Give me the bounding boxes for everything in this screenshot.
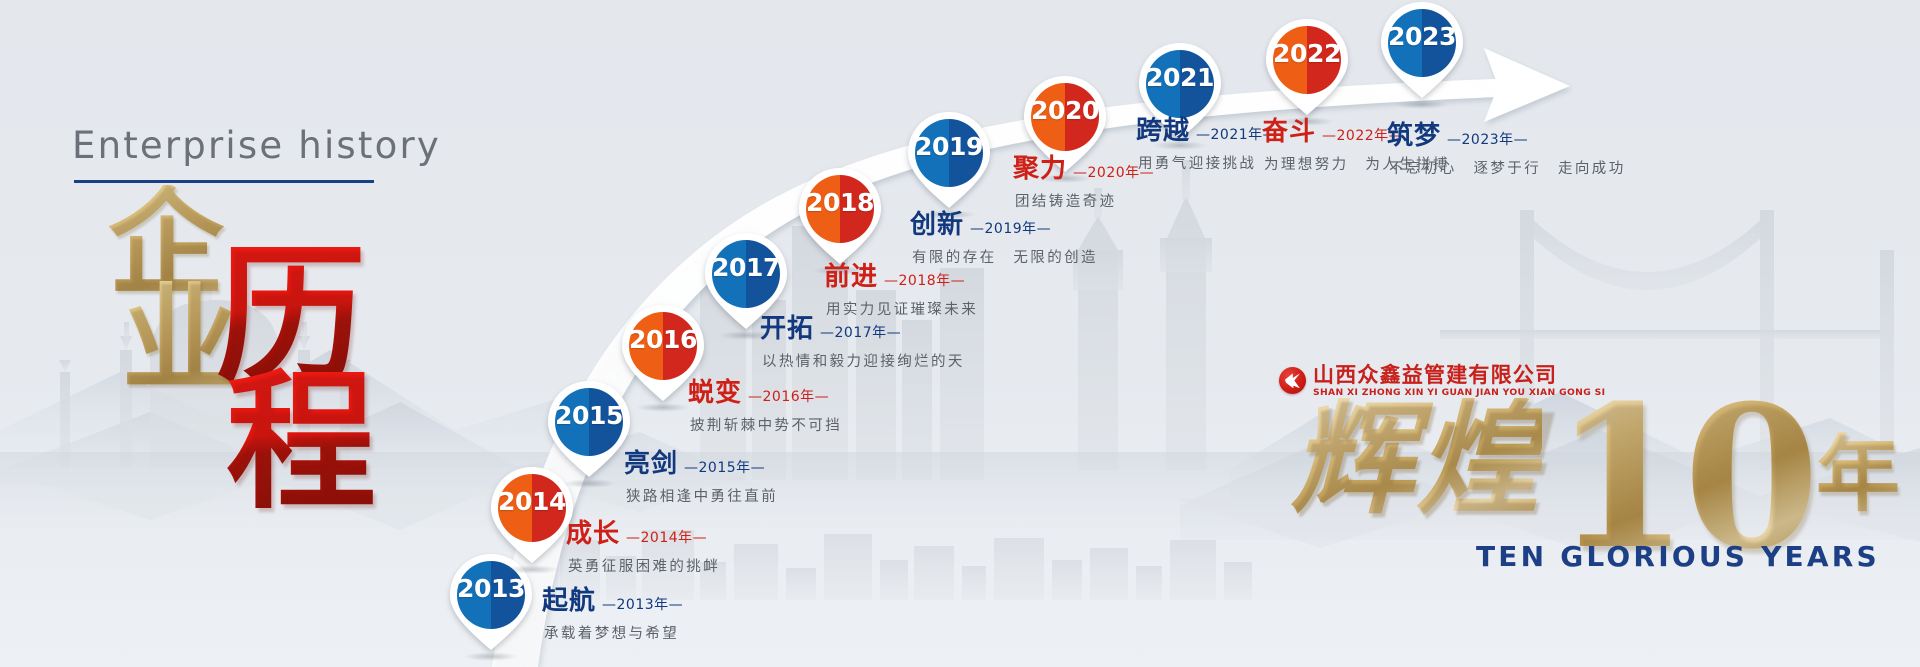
milestone-2015[interactable]: 亮剑 —2015年— 狭路相逢中勇往直前 [624,443,778,506]
milestone-year: —2023年— [1447,129,1528,149]
anniversary-english: TEN GLORIOUS YEARS [1476,540,1880,573]
anniversary-unit: 年 [1816,432,1900,516]
milestone-title: 蜕变 [688,372,742,409]
anniversary-chinese: 辉煌 [1290,398,1542,522]
milestone-description: 用勇气迎接挑战 [1138,152,1277,173]
page-title-english: Enterprise history [72,124,441,167]
milestone-title: 跨越 [1136,110,1190,147]
milestone-description: 不忘初心 逐梦于行 走向成功 [1389,157,1626,178]
infographic-canvas: Enterprise history 企 业 历 程 2013 [0,0,1920,667]
milestone-title: 奋斗 [1262,111,1316,148]
milestone-description: 团结铸造奇迹 [1015,190,1154,211]
milestone-title: 亮剑 [624,443,678,480]
milestone-description: 有限的存在 无限的创造 [912,246,1098,267]
milestone-description: 英勇征服困难的挑衅 [568,555,720,576]
milestone-title: 筑梦 [1387,115,1441,152]
milestone-year: —2018年— [884,270,965,290]
timeline-pin-2022[interactable]: 2022 [1264,17,1350,121]
timeline-pin-2019[interactable]: 2019 [906,110,992,214]
title-char-cheng: 程 [226,367,376,517]
pin-drop-shadow [636,403,690,412]
milestone-2021[interactable]: 跨越 —2021年— 用勇气迎接挑战 [1136,110,1277,173]
milestone-year: —2016年— [748,386,829,406]
milestone-year: —2019年— [970,218,1051,238]
milestone-year: —2015年— [684,457,765,477]
milestone-2023[interactable]: 筑梦 —2023年— 不忘初心 逐梦于行 走向成功 [1387,115,1626,178]
milestone-2019[interactable]: 创新 —2019年— 有限的存在 无限的创造 [910,204,1098,267]
milestone-description: 披荆斩棘中势不可挡 [690,414,842,435]
milestone-title: 前进 [824,256,878,293]
pin-drop-shadow [562,479,616,488]
anniversary-block: 辉煌 10 年 TEN GLORIOUS YEARS [1268,392,1918,567]
pin-drop-shadow [505,565,559,574]
milestone-2014[interactable]: 成长 —2014年— 英勇征服困难的挑衅 [566,513,720,576]
pin-drop-shadow [464,652,518,661]
milestone-description: 承载着梦想与希望 [544,622,683,643]
milestone-title: 起航 [542,580,596,617]
page-title-chinese: 企 业 历 程 [108,185,408,515]
timeline-pin-2023[interactable]: 2023 [1379,0,1465,104]
milestone-description: 用实力见证璀璨未来 [826,298,978,319]
milestone-2020[interactable]: 聚力 —2020年— 团结铸造奇迹 [1013,148,1154,211]
milestone-title: 成长 [566,513,620,550]
pin-drop-shadow [1395,100,1449,109]
milestone-year: —2013年— [602,594,683,614]
milestone-description: 以热情和毅力迎接绚烂的天 [762,350,965,371]
milestone-title: 聚力 [1013,148,1067,185]
milestone-title: 创新 [910,204,964,241]
milestone-2013[interactable]: 起航 —2013年— 承载着梦想与希望 [542,580,683,643]
timeline-pin-2018[interactable]: 2018 [797,166,883,270]
milestone-year: —2014年— [626,527,707,547]
milestone-title: 开拓 [760,308,814,345]
milestone-2016[interactable]: 蜕变 —2016年— 披荆斩棘中势不可挡 [688,372,842,435]
milestone-year: —2017年— [820,322,901,342]
milestone-description: 狭路相逢中勇往直前 [626,485,778,506]
